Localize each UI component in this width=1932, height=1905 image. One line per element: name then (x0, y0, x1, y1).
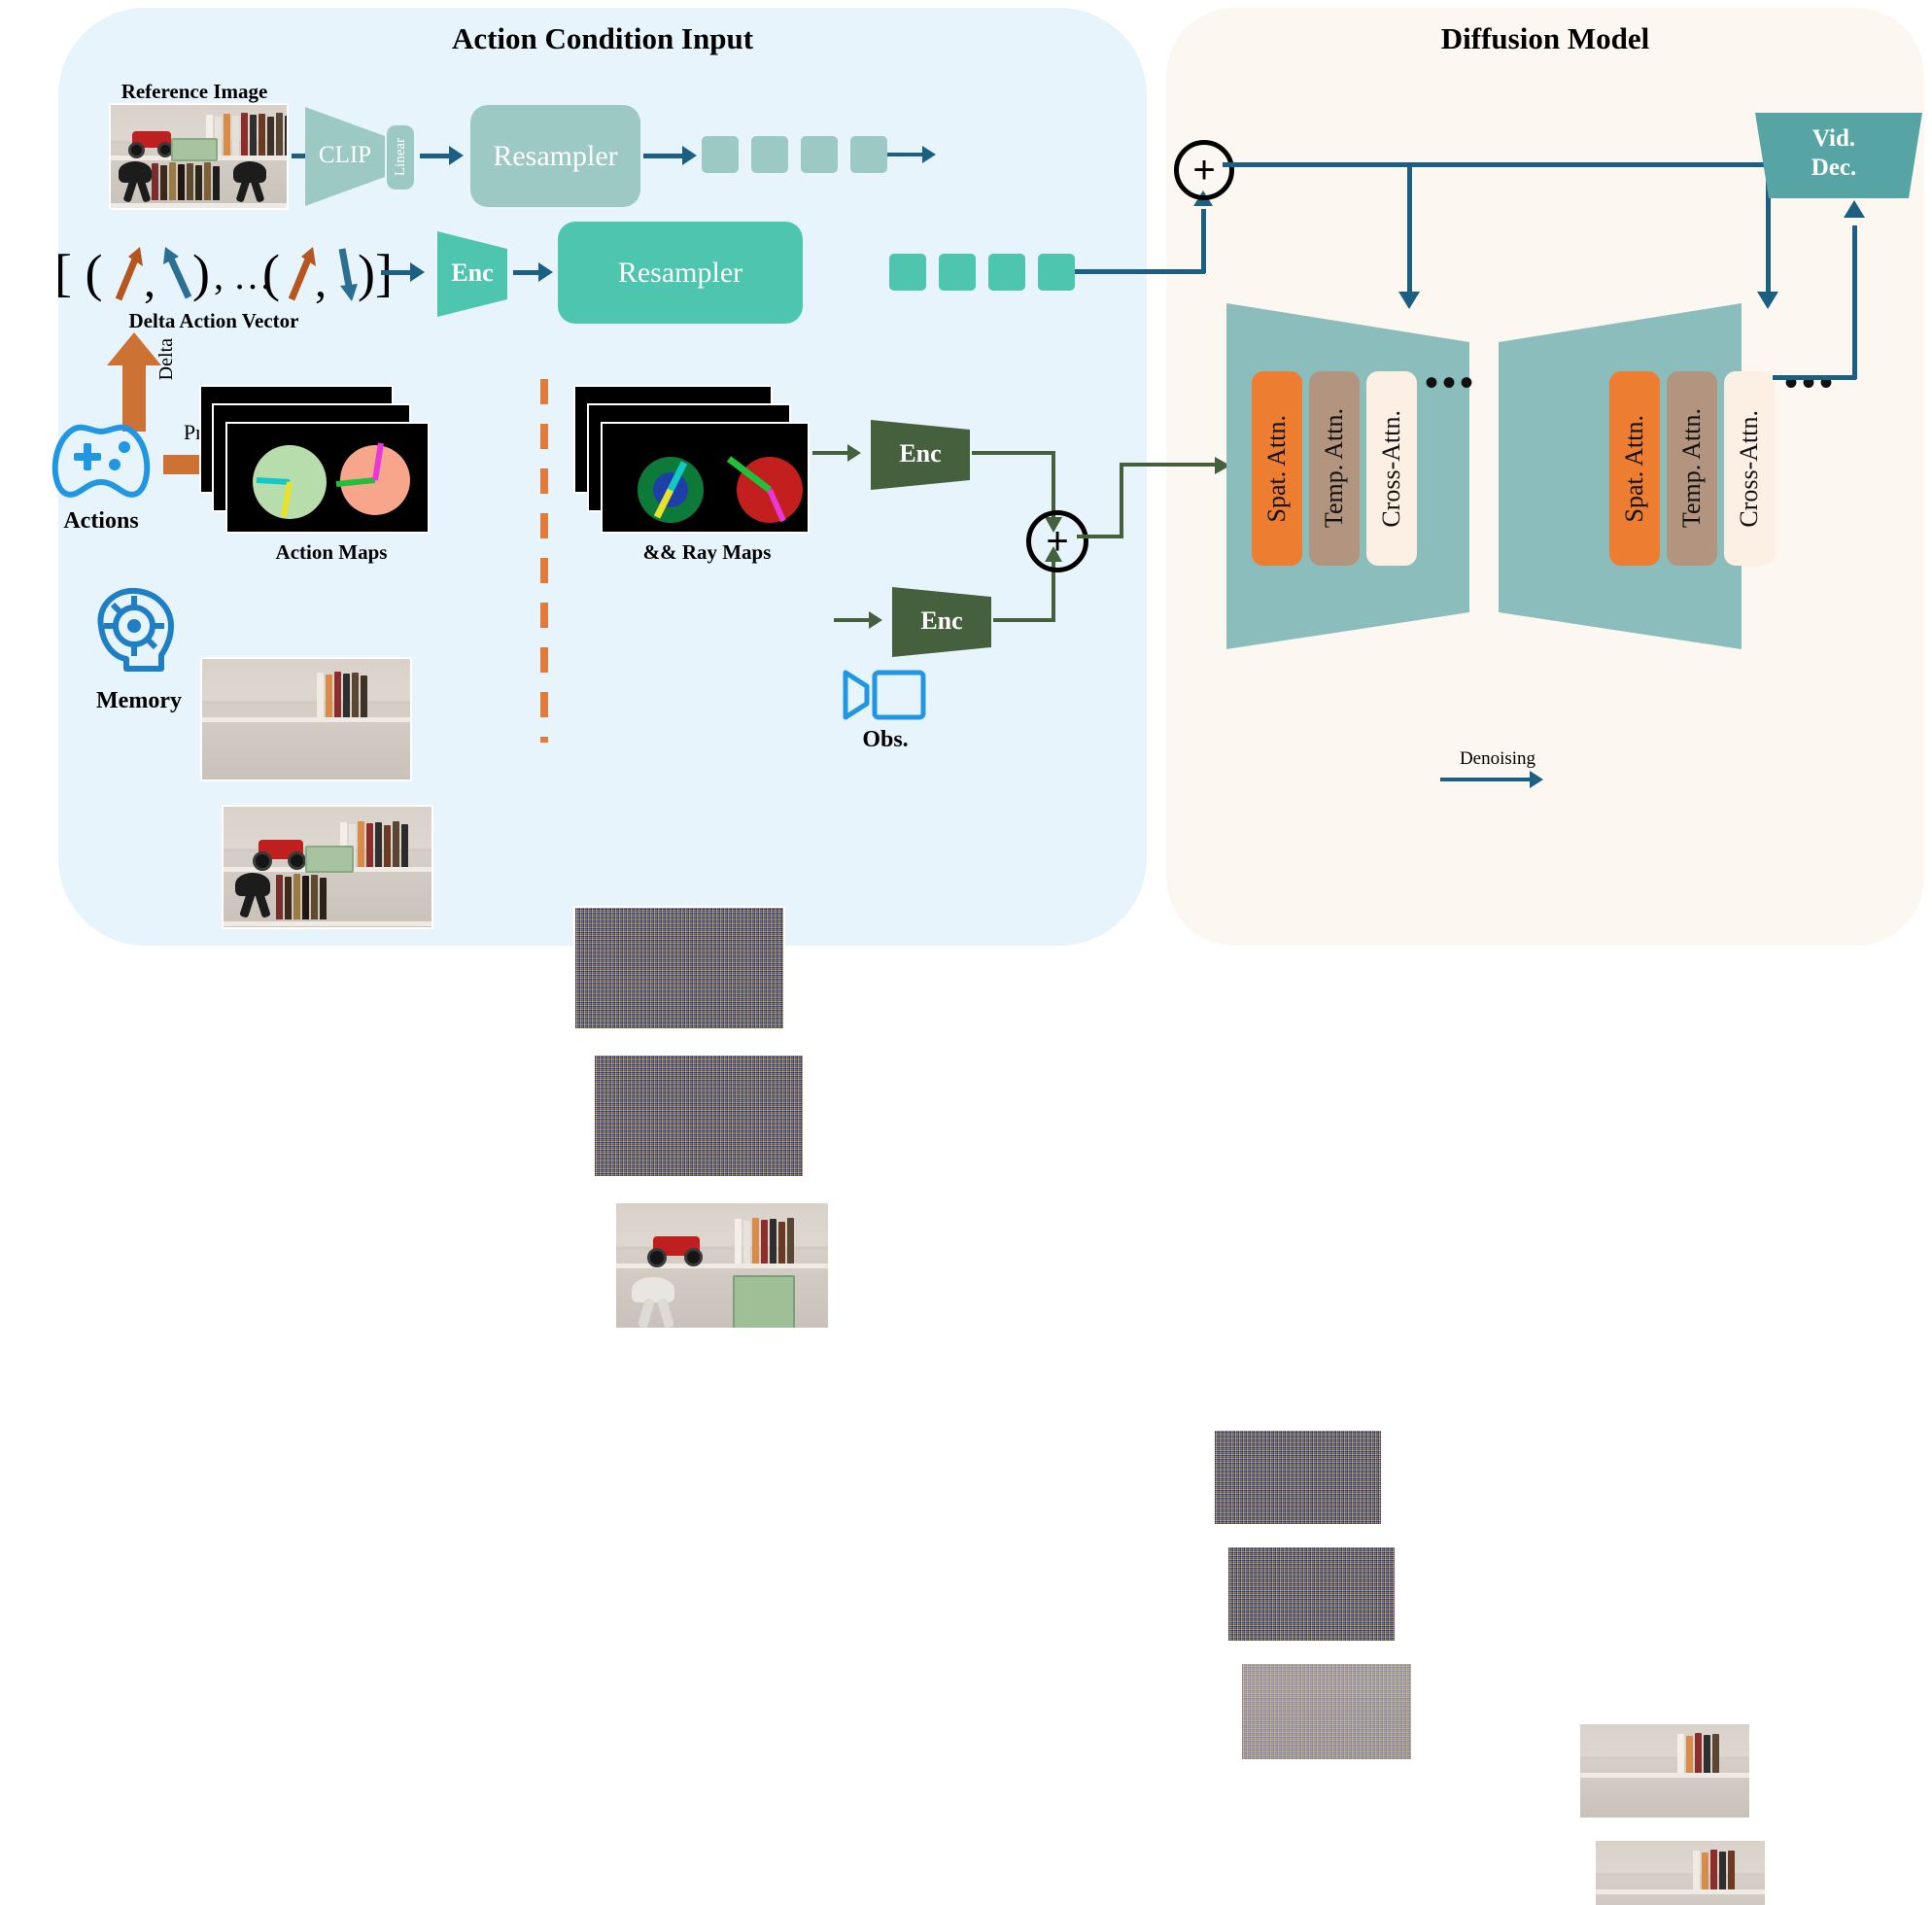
arrow-raymaps-to-enc-line (812, 451, 851, 455)
arrow-raymaps-to-enc-head (847, 444, 861, 462)
cross-attn-pill-up: Cross-Attn. (1724, 371, 1775, 566)
line-rail-down-left (1407, 162, 1412, 298)
divider-dashed-upper (540, 379, 548, 544)
spat-attn-label-up: Spat. Attn. (1620, 415, 1649, 523)
arrow-obs-to-enc-head (869, 611, 882, 629)
delta-arrow-label-wrap: Delta (155, 338, 178, 385)
arrow-linear-to-resampler-head (449, 146, 464, 165)
line-sum-to-rail (1223, 162, 1771, 167)
ray-maps-label: && Ray Maps (603, 540, 811, 565)
delta-arrow-up-right-icon-2 (284, 243, 319, 305)
line-encraymap-right (972, 451, 1055, 455)
image-token (801, 136, 838, 173)
enc-obs-label: Enc (888, 606, 995, 636)
delta-arrow-down-right-icon (159, 243, 196, 305)
arrow-resampler-to-tokens-line (643, 154, 684, 158)
memory-label: Memory (76, 688, 202, 714)
enc-action-label: Enc (433, 259, 511, 288)
comma-2: , (315, 255, 327, 308)
arrow-obs-to-enc-line (834, 618, 873, 622)
delta-arrow-label: Delta (155, 338, 178, 380)
bracket-open: [ ( (54, 243, 102, 303)
line-sum-to-unet-up (1120, 463, 1123, 538)
denoising-label: Denoising (1434, 748, 1561, 770)
arrow-delta-to-enc-line (381, 270, 412, 275)
resampler-action-label: Resampler (618, 257, 742, 290)
obs-label: Obs. (832, 727, 939, 753)
ray-map-frame-front (601, 422, 810, 534)
temp-attn-pill-down: Temp. Attn. (1309, 371, 1360, 566)
line-unet-to-viddec-across (1773, 375, 1856, 380)
gamepad-icon (43, 418, 159, 505)
action-token (988, 254, 1025, 291)
arrow-unet-to-viddec-head (1844, 200, 1865, 218)
video-decoder-label-line2: Dec. (1742, 154, 1926, 183)
line-actiontokens-right (1075, 269, 1205, 274)
line-unet-to-viddec-up (1852, 225, 1857, 379)
cross-attn-pill-down: Cross-Attn. (1366, 371, 1417, 566)
linear-label: Linear (393, 138, 409, 176)
cross-attn-label-up: Cross-Attn. (1735, 410, 1764, 528)
action-token (939, 254, 976, 291)
unet-up-ellipsis: ••• (1784, 360, 1837, 405)
delta-action-vector-label: Delta Action Vector (58, 309, 369, 333)
resampler-action-block: Resampler (558, 222, 803, 324)
reference-image-photo (109, 103, 289, 210)
image-token (850, 136, 887, 173)
obs-photo-front (614, 1201, 830, 1330)
arrow-denoising-head (1530, 771, 1543, 788)
unet-down-ellipsis: ••• (1425, 360, 1477, 405)
action-maps-label: Action Maps (229, 540, 433, 565)
comma-1: , (144, 255, 155, 308)
line-encobs-right (993, 618, 1055, 622)
arrow-enc-to-resampler-line (513, 270, 540, 275)
line-sum-to-unet-right (1077, 535, 1123, 538)
denoise-output-frame-back (1578, 1722, 1751, 1819)
spat-attn-label-down: Spat. Attn. (1262, 415, 1292, 523)
temp-attn-label-up: Temp. Attn. (1677, 408, 1707, 528)
denoise-input-frame-back (1213, 1429, 1383, 1526)
temp-attn-label-down: Temp. Attn. (1320, 408, 1349, 528)
reference-image-label: Reference Image (107, 80, 282, 104)
camera-obs-icon (842, 665, 929, 725)
paren-close-1: ) (192, 243, 210, 303)
resampler-image-label: Resampler (493, 140, 617, 173)
arrow-denoising-line (1440, 778, 1534, 781)
page-title-diffusion-model: Diffusion Model (1166, 21, 1924, 56)
condition-sum-node: + (1174, 140, 1234, 200)
memory-photo-back (200, 657, 412, 781)
arrow-crossattn-right-head (1757, 292, 1778, 309)
delta-action-vector-expression: [ ( , ) , … ( , )] (51, 241, 362, 311)
action-token (1038, 254, 1075, 291)
arrow-imgtokens-to-sum-line (887, 153, 926, 156)
arrow-resampler-to-tokens-head (682, 146, 697, 165)
arrow-imgtokens-to-sum-head (922, 146, 936, 163)
cross-attn-label-down: Cross-Attn. (1377, 410, 1406, 528)
image-token (751, 136, 788, 173)
video-decoder-label-line1: Vid. (1742, 124, 1926, 154)
action-map-render (227, 424, 428, 532)
action-token (889, 254, 926, 291)
temp-attn-pill-up: Temp. Attn. (1667, 371, 1717, 566)
enc-raymap-label: Enc (867, 439, 974, 468)
clip-label: CLIP (301, 142, 389, 169)
spat-attn-pill-up: Spat. Attn. (1609, 371, 1660, 566)
arrow-linear-to-resampler-line (420, 154, 451, 158)
line-sum-to-unet-across (1120, 463, 1219, 467)
spat-attn-pill-down: Spat. Attn. (1252, 371, 1302, 566)
paren-open-2: ( (262, 243, 280, 303)
action-map-frame-front (225, 422, 430, 534)
page-title-action-condition-input: Action Condition Input (58, 21, 1147, 56)
memory-brain-icon (86, 581, 189, 684)
memory-photo-front (222, 805, 433, 929)
delta-arrow-up-right-icon (111, 243, 146, 305)
ray-map-render (603, 424, 808, 532)
actions-label: Actions (33, 508, 169, 535)
divider-dashed-lower (540, 558, 548, 743)
obs-noise-frame-mid (593, 1054, 805, 1178)
denoise-input-frame-front (1240, 1662, 1413, 1761)
latent-sum-node: + (1026, 510, 1088, 572)
obs-noise-frame-back (573, 906, 785, 1030)
denoise-output-frame-mid (1594, 1839, 1767, 1905)
linear-block: Linear (387, 125, 414, 190)
resampler-image-block: Resampler (470, 105, 640, 207)
line-actiontokens-up (1201, 209, 1206, 273)
denoise-input-frame-mid (1226, 1545, 1397, 1643)
arrow-enc-to-resampler-head (538, 262, 553, 282)
image-token (702, 136, 739, 173)
arrow-delta-to-enc-head (410, 262, 425, 282)
